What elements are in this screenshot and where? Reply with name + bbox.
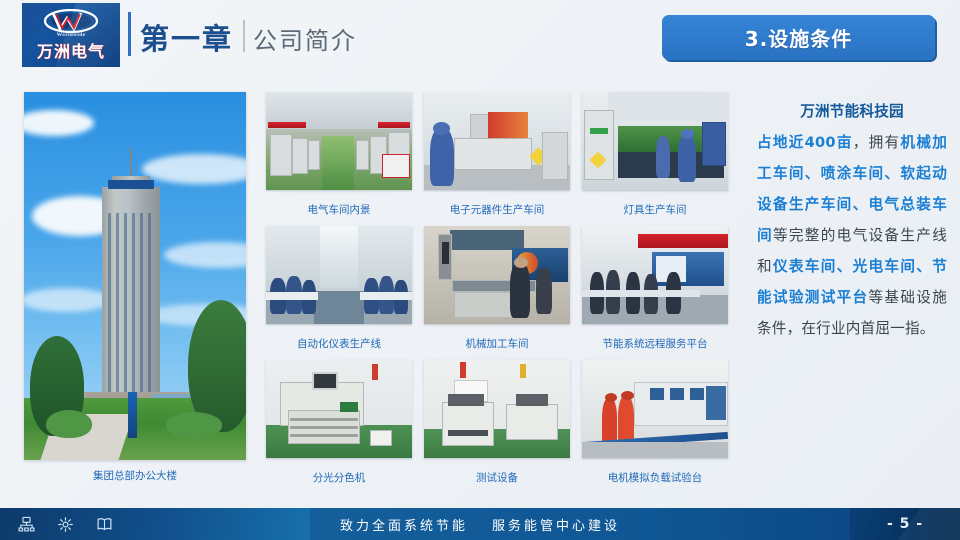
chapter-separator xyxy=(243,20,245,52)
caption-thumb-3: 灯具生产车间 xyxy=(582,202,728,217)
building-spire xyxy=(130,148,132,178)
description-seg-2: ，拥有 xyxy=(853,134,901,151)
book-icon[interactable] xyxy=(96,516,113,533)
chapter-title: 第一章 xyxy=(140,16,233,58)
photo-thumb-2 xyxy=(424,92,570,190)
company-logo: Worldwide 万洲电气 xyxy=(22,3,120,67)
building-rooftop-sign xyxy=(108,180,154,189)
logo-company-name: 万洲电气 xyxy=(22,38,120,62)
chapter-subtitle: 公司简介 xyxy=(253,21,357,56)
page-number: - 5 - xyxy=(850,508,960,540)
description-title: 万洲节能科技园 xyxy=(757,96,947,127)
building-tower xyxy=(102,187,160,402)
photo-thumb-5 xyxy=(424,226,570,324)
photo-thumb-8 xyxy=(424,360,570,458)
footer-icon-group xyxy=(18,508,113,540)
slide-header: Worldwide 万洲电气 第一章 公司简介 3.设施条件 xyxy=(0,0,960,82)
gear-icon[interactable] xyxy=(57,516,74,533)
description-seg-1: 占地近400亩 xyxy=(757,134,853,151)
photo-thumb-9 xyxy=(582,360,728,458)
caption-thumb-4: 自动化仪表生产线 xyxy=(266,336,412,351)
shrub xyxy=(46,410,92,438)
caption-thumb-7: 分光分色机 xyxy=(266,470,412,485)
footer-right-band xyxy=(650,508,850,540)
photo-thumb-3 xyxy=(582,92,728,190)
photo-thumb-7 xyxy=(266,360,412,458)
banner-flag xyxy=(128,392,137,438)
shrub xyxy=(166,412,222,438)
caption-thumb-2: 电子元器件生产车间 xyxy=(424,202,570,217)
slide-footer: 致力全面系统节能 服务能管中心建设 - 5 - xyxy=(0,508,960,540)
photo-thumb-4 xyxy=(266,226,412,324)
description-paragraph: 万洲节能科技园占地近400亩，拥有机械加工车间、喷涂车间、软起动设备生产车间、电… xyxy=(757,96,947,344)
caption-thumb-6: 节能系统远程服务平台 xyxy=(582,336,728,351)
w-emblem-icon xyxy=(43,9,99,33)
cloud xyxy=(24,288,112,312)
section-banner-label: 3.设施条件 xyxy=(745,23,853,52)
footer-mid-band xyxy=(310,508,650,540)
header-accent-bar xyxy=(128,12,131,56)
photo-headquarters-building xyxy=(24,92,246,460)
section-banner: 3.设施条件 xyxy=(662,15,935,60)
photo-thumb-1 xyxy=(266,92,412,190)
caption-thumb-5: 机械加工车间 xyxy=(424,336,570,351)
caption-thumb-8: 测试设备 xyxy=(424,470,570,485)
caption-thumb-9: 电机模拟负载试验台 xyxy=(582,470,728,485)
photo-thumb-6 xyxy=(582,226,728,324)
caption-thumb-1: 电气车间内景 xyxy=(266,202,412,217)
caption-headquarters-building: 集团总部办公大楼 xyxy=(24,468,246,483)
sitemap-icon[interactable] xyxy=(18,516,35,533)
